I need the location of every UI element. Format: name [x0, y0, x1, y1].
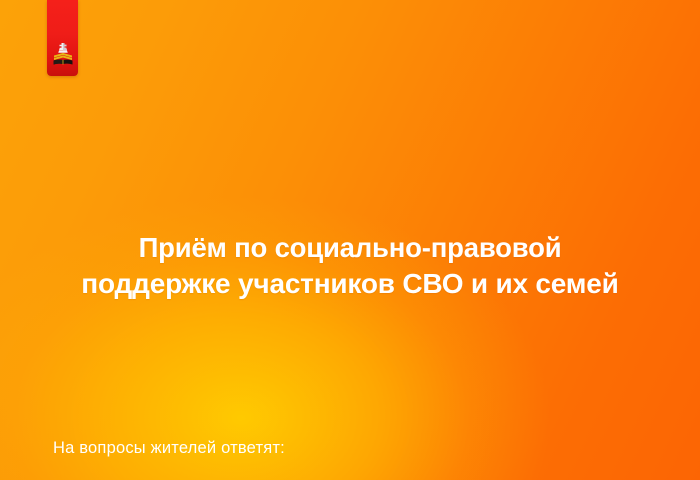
- participants-heading: На вопросы жителей ответят:: [53, 437, 383, 459]
- page-title: Приём по социально-правовой поддержке уч…: [0, 230, 700, 302]
- crest-banner: [47, 0, 78, 76]
- title-line-1: Приём по социально-правовой: [32, 230, 668, 266]
- title-line-2: поддержке участников СВО и их семей: [32, 266, 668, 302]
- participants-block: На вопросы жителей ответят: – Администра…: [53, 437, 383, 480]
- coat-of-arms-emblem: [52, 41, 74, 67]
- event-poster: Приём по социально-правовой поддержке уч…: [0, 0, 700, 480]
